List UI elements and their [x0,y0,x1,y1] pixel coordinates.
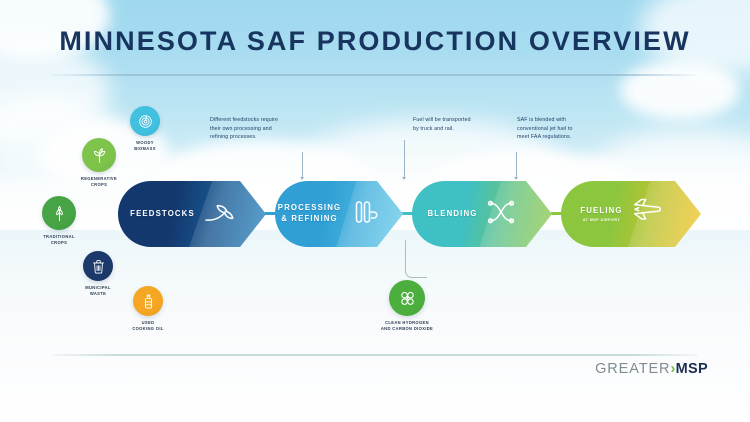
stage-text: FUELINGAT MSP AIRPORT [580,206,622,222]
feedstock-item-2[interactable]: TRADITIONAL CROPS [25,196,93,246]
title-divider [52,74,698,76]
page-title: MINNESOTA SAF PRODUCTION OVERVIEW [0,26,750,57]
feedstock-label: REGENERATIVE CROPS [65,176,133,188]
byproduct-label: CLEAN HYDROGEN AND CARBON DIOXIDE [364,320,450,332]
feedstock-label: TRADITIONAL CROPS [25,234,93,246]
infographic-canvas: MINNESOTA SAF PRODUCTION OVERVIEW WOODY … [0,0,750,422]
callout-text-2: SAF is blended with conventional jet fue… [517,116,573,142]
process-stage-1[interactable]: PROCESSING & REFINING [275,181,403,247]
logo-msp-text: MSP [676,361,708,377]
feedstock-label: USED COOKING OIL [116,320,180,332]
stage-text: FEEDSTOCKS [130,209,195,220]
airplane-icon [632,197,662,232]
byproduct-item[interactable]: CLEAN HYDROGEN AND CARBON DIOXIDE [364,280,450,332]
feedstock-item-1[interactable]: REGENERATIVE CROPS [65,138,133,188]
callout-text-1: Fuel will be transported by truck and ra… [413,116,471,133]
sprout-icon [204,197,234,232]
cloud-decoration [620,60,740,120]
molecule-icon [389,280,425,316]
stage-subtitle: AT MSP AIRPORT [580,218,622,222]
traditional-crops-icon [42,196,76,230]
bottom-divider [52,354,698,356]
callout-leader-line-1 [404,140,405,177]
callout-arrowhead-1 [402,177,406,180]
stage-title: PROCESSING & REFINING [278,203,342,224]
logo-greater-text: GREATER [595,361,670,377]
stage-text: PROCESSING & REFINING [278,203,342,224]
greater-msp-logo[interactable]: GREATER›MSP [595,361,708,377]
woody-biomass-icon [130,106,160,136]
stage-title: BLENDING [428,209,478,220]
callout-text-0: Different feedstocks require their own p… [210,116,278,142]
stage-title: FEEDSTOCKS [130,209,195,220]
feedstock-item-4[interactable]: USED COOKING OIL [116,286,180,332]
stage-title: FUELING [580,206,622,217]
refinery-tanks-icon [350,197,380,232]
municipal-waste-icon [83,251,113,281]
callout-leader-line-2 [516,152,517,177]
process-stage-3[interactable]: FUELINGAT MSP AIRPORT [561,181,701,247]
callout-arrowhead-0 [300,177,304,180]
callout-arrowhead-2 [514,177,518,180]
stage-text: BLENDING [428,209,478,220]
process-stage-0[interactable]: FEEDSTOCKS [118,181,266,247]
process-stage-2[interactable]: BLENDING [412,181,552,247]
regenerative-crops-icon [82,138,116,172]
byproduct-connector [405,240,427,278]
used-cooking-oil-icon [133,286,163,316]
callout-leader-line-0 [302,152,303,177]
title-container: MINNESOTA SAF PRODUCTION OVERVIEW [0,26,750,57]
blend-cross-icon [486,197,516,232]
